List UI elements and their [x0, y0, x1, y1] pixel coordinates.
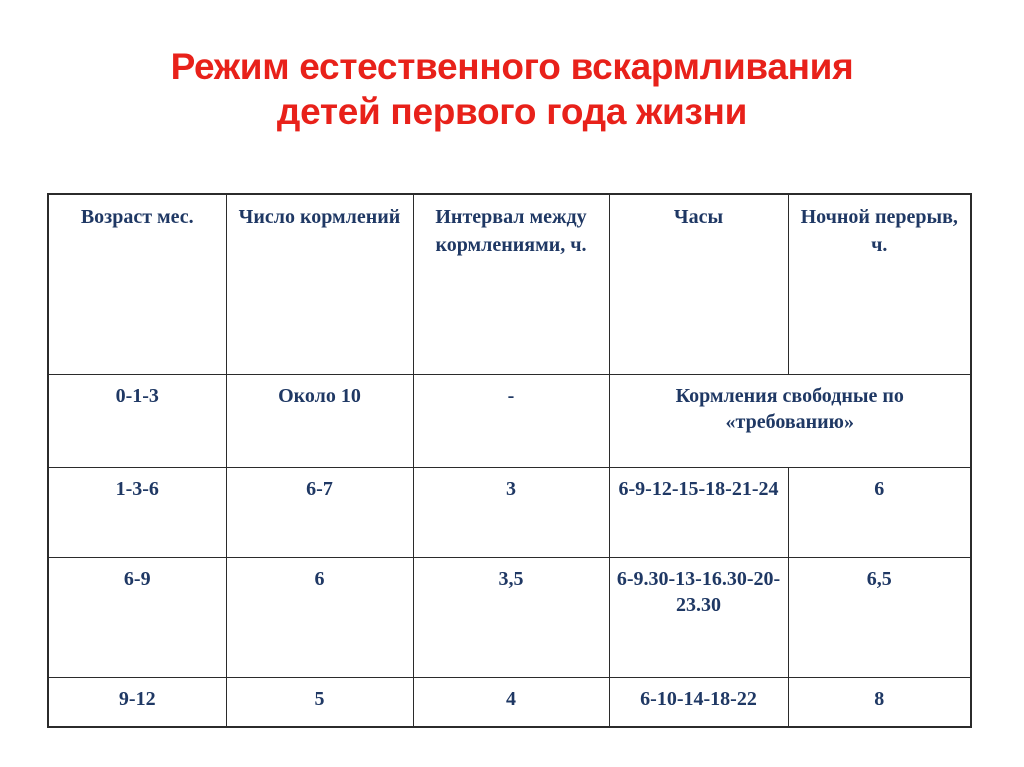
- cell-feedings-count: 6-7: [226, 468, 413, 558]
- feeding-schedule-table-container: Возраст мес. Число кормлений Интервал ме…: [47, 193, 970, 728]
- cell-night-break: 6: [788, 468, 971, 558]
- column-header-hours: Часы: [609, 194, 788, 375]
- page-title-line-1: Режим естественного вскармливания: [0, 44, 1024, 89]
- table-row: 1-3-6 6-7 3 6-9-12-15-18-21-24 6: [48, 468, 971, 558]
- cell-age: 0-1-3: [48, 375, 226, 468]
- cell-night-break: 6,5: [788, 558, 971, 678]
- cell-free-feeding-note: Кормления свободные по «требованию»: [609, 375, 971, 468]
- cell-interval: 3,5: [413, 558, 609, 678]
- feeding-schedule-table: Возраст мес. Число кормлений Интервал ме…: [47, 193, 972, 728]
- table-row: 0-1-3 Около 10 - Кормления свободные по …: [48, 375, 971, 468]
- cell-feedings-count: Около 10: [226, 375, 413, 468]
- cell-interval: 3: [413, 468, 609, 558]
- cell-interval: -: [413, 375, 609, 468]
- column-header-feedings-count: Число кормлений: [226, 194, 413, 375]
- cell-feedings-count: 5: [226, 678, 413, 728]
- page-root: Режим естественного вскармливания детей …: [0, 0, 1024, 767]
- cell-hours: 6-9.30-13-16.30-20-23.30: [609, 558, 788, 678]
- cell-hours: 6-10-14-18-22: [609, 678, 788, 728]
- column-header-night-break: Ночной перерыв, ч.: [788, 194, 971, 375]
- cell-age: 1-3-6: [48, 468, 226, 558]
- table-row: 9-12 5 4 6-10-14-18-22 8: [48, 678, 971, 728]
- cell-age: 6-9: [48, 558, 226, 678]
- cell-age: 9-12: [48, 678, 226, 728]
- column-header-interval: Интервал между кормлениями, ч.: [413, 194, 609, 375]
- table-row: 6-9 6 3,5 6-9.30-13-16.30-20-23.30 6,5: [48, 558, 971, 678]
- page-title: Режим естественного вскармливания детей …: [0, 44, 1024, 134]
- cell-night-break: 8: [788, 678, 971, 728]
- cell-hours: 6-9-12-15-18-21-24: [609, 468, 788, 558]
- cell-interval: 4: [413, 678, 609, 728]
- table-header-row: Возраст мес. Число кормлений Интервал ме…: [48, 194, 971, 375]
- page-title-line-2: детей первого года жизни: [0, 89, 1024, 134]
- cell-feedings-count: 6: [226, 558, 413, 678]
- column-header-age: Возраст мес.: [48, 194, 226, 375]
